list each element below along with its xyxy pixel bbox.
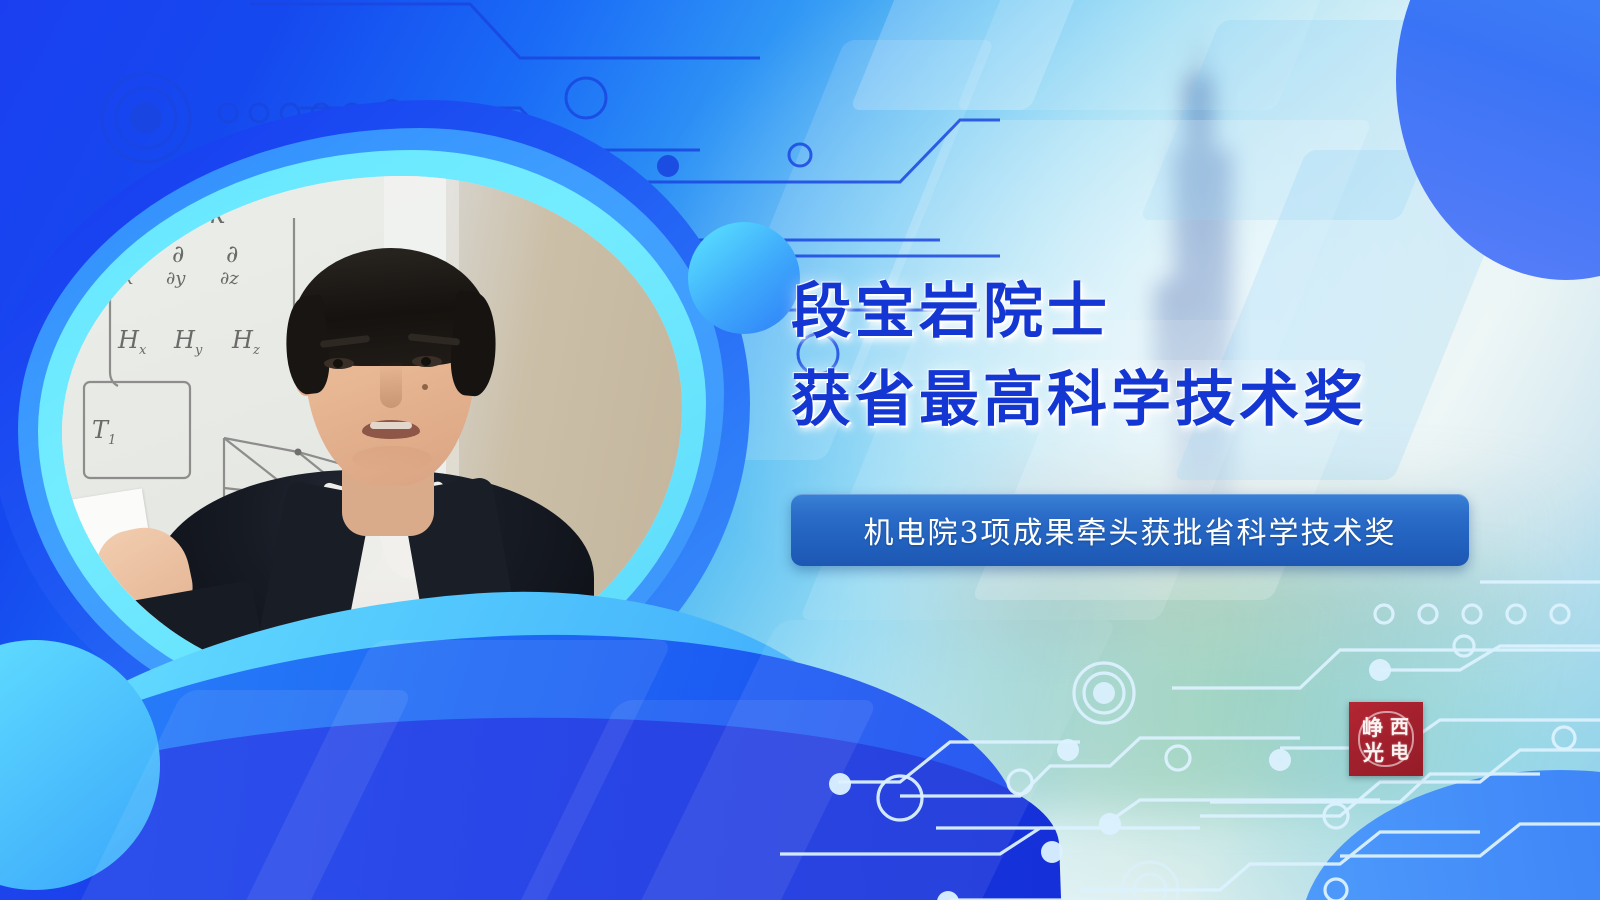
seal-char-3: 西 bbox=[1390, 718, 1409, 737]
red-seal-stamp: 峥 光 西 电 bbox=[1349, 702, 1423, 776]
title-block: 段宝岩院士 获省最高科学技术奖 bbox=[791, 282, 1491, 430]
circuit-traces-light bbox=[780, 560, 1600, 900]
subtitle-text: 机电院3项成果牵头获批省科学技术奖 bbox=[863, 508, 1396, 552]
title-line-1: 段宝岩院士 bbox=[791, 282, 1491, 342]
accent-circle bbox=[688, 222, 800, 334]
seal-char-1: 峥 bbox=[1362, 717, 1383, 738]
title-line-2: 获省最高科学技术奖 bbox=[791, 370, 1491, 430]
subtitle-bar: 机电院3项成果牵头获批省科学技术奖 bbox=[791, 494, 1469, 566]
seal-char-4: 电 bbox=[1390, 743, 1409, 762]
seal-char-2: 光 bbox=[1363, 742, 1384, 763]
poster-canvas: j k = ∂ ∂x ∂ ∂y ∂ ∂z Hx Hy Hz T1 E(∞A)= … bbox=[0, 0, 1600, 900]
